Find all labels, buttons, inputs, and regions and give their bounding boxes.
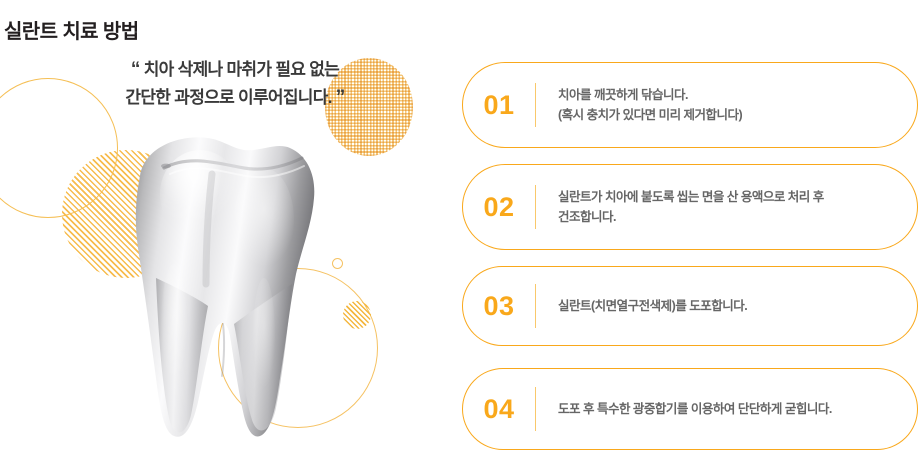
quote-block: “ 치아 삭제나 마취가 필요 없는 간단한 과정으로 이루어집니다. ”: [60, 56, 410, 112]
quote-close-mark: ”: [336, 87, 345, 108]
step-card-04[interactable]: 04 도포 후 특수한 광중합기를 이용하여 단단하게 굳힙니다.: [462, 368, 918, 450]
step-card-03[interactable]: 03 실란트(치면열구전색제)를 도포합니다.: [462, 266, 918, 346]
step-text-03: 실란트(치면열구전색제)를 도포합니다.: [536, 296, 917, 316]
step-text-line-2: (혹시 충치가 있다면 미리 제거합니다): [558, 105, 899, 125]
step-text-line-1: 실란트(치면열구전색제)를 도포합니다.: [558, 296, 899, 316]
step-text-line-2: 건조합니다.: [558, 207, 899, 227]
steps-list: 01 치아를 깨끗하게 닦습니다. (혹시 충치가 있다면 미리 제거합니다) …: [462, 62, 918, 450]
step-text-01: 치아를 깨끗하게 닦습니다. (혹시 충치가 있다면 미리 제거합니다): [536, 85, 917, 126]
step-card-01[interactable]: 01 치아를 깨끗하게 닦습니다. (혹시 충치가 있다면 미리 제거합니다): [462, 62, 918, 148]
step-card-02[interactable]: 02 실란트가 치아에 붙도록 씹는 면을 산 용액으로 처리 후 건조합니다.: [462, 164, 918, 250]
step-text-line-1: 치아를 깨끗하게 닦습니다.: [558, 85, 899, 105]
quote-text-2: 간단한 과정으로 이루어집니다.: [125, 88, 331, 107]
step-text-04: 도포 후 특수한 광중합기를 이용하여 단단하게 굳힙니다.: [536, 399, 917, 419]
infographic-page: 실란트 치료 방법: [0, 0, 920, 452]
quote-line-2: 간단한 과정으로 이루어집니다. ”: [60, 84, 410, 112]
step-number-01: 01: [463, 90, 535, 121]
quote-text-1: 치아 삭제나 마취가 필요 없는: [144, 60, 339, 79]
illustration-panel: “ 치아 삭제나 마취가 필요 없는 간단한 과정으로 이루어집니다. ”: [0, 0, 460, 452]
step-text-line-1: 도포 후 특수한 광중합기를 이용하여 단단하게 굳힙니다.: [558, 399, 899, 419]
quote-line-1: “ 치아 삭제나 마취가 필요 없는: [60, 56, 410, 84]
striped-dot-icon: [343, 301, 371, 329]
step-number-04: 04: [463, 394, 535, 425]
tooth-illustration: [104, 128, 344, 443]
step-number-03: 03: [463, 291, 535, 322]
step-number-02: 02: [463, 192, 535, 223]
step-text-line-1: 실란트가 치아에 붙도록 씹는 면을 산 용액으로 처리 후: [558, 187, 899, 207]
step-text-02: 실란트가 치아에 붙도록 씹는 면을 산 용액으로 처리 후 건조합니다.: [536, 187, 917, 228]
quote-open-mark: “: [131, 59, 140, 80]
